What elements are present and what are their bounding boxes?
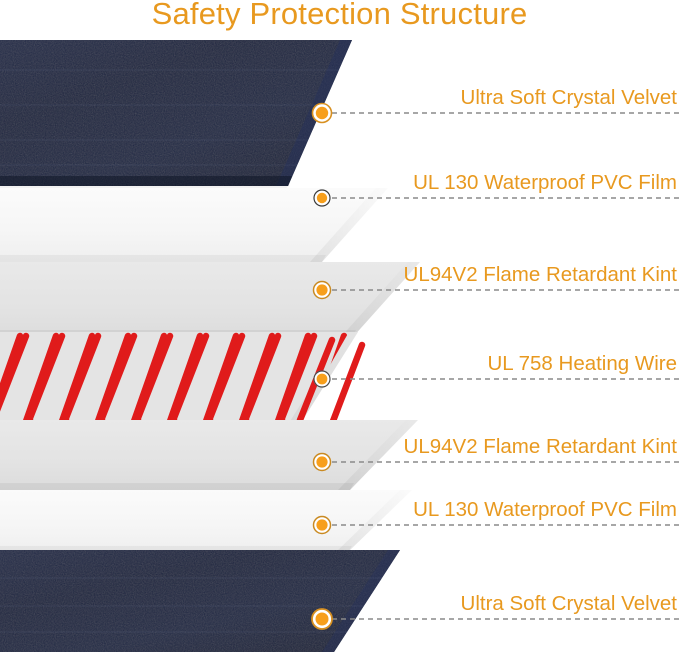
label-knit-bottom: UL94V2 Flame Retardant Kint xyxy=(404,435,677,459)
label-pvc-bottom: UL 130 Waterproof PVC Film xyxy=(413,498,677,522)
label-pvc-top: UL 130 Waterproof PVC Film xyxy=(413,171,677,195)
layer-dot-heating-wire[interactable] xyxy=(314,371,331,388)
layer-velvet-top xyxy=(0,40,352,196)
layer-dot-knit-top[interactable] xyxy=(313,281,331,299)
label-velvet-bottom: Ultra Soft Crystal Velvet xyxy=(461,592,677,616)
layer-dot-knit-bottom[interactable] xyxy=(313,453,331,471)
safety-protection-structure-diagram: Safety Protection Structure xyxy=(0,0,679,652)
layer-dot-velvet-bottom[interactable] xyxy=(312,609,333,630)
label-knit-top: UL94V2 Flame Retardant Kint xyxy=(404,263,677,287)
layer-dot-velvet-top[interactable] xyxy=(312,103,332,123)
label-heating-wire: UL 758 Heating Wire xyxy=(487,352,677,376)
layer-dot-pvc-bottom[interactable] xyxy=(313,516,331,534)
page-title: Safety Protection Structure xyxy=(0,0,679,32)
label-velvet-top: Ultra Soft Crystal Velvet xyxy=(461,86,677,110)
layer-velvet-bottom xyxy=(0,550,400,652)
layer-dot-pvc-top[interactable] xyxy=(314,190,331,207)
layer-knit-bottom xyxy=(0,420,418,499)
